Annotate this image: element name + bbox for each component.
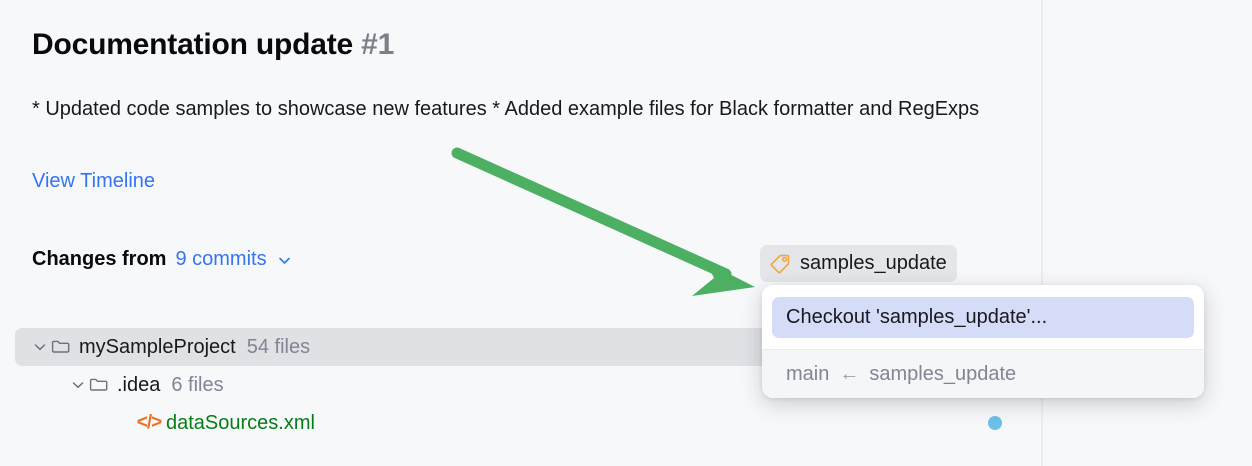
page-title: Documentation update #1	[32, 28, 394, 62]
table-row[interactable]: </> dataSources.xml	[0, 404, 1041, 442]
pr-number: #1	[361, 28, 394, 61]
folder-icon	[50, 337, 72, 357]
footer-source-branch: samples_update	[869, 363, 1016, 386]
changes-from-row: Changes from 9 commits	[32, 248, 293, 271]
footer-target-branch: main	[786, 363, 829, 386]
pr-title-text: Documentation update	[32, 28, 353, 61]
changes-from-label: Changes from	[32, 248, 166, 271]
branch-tag-chip[interactable]: samples_update	[760, 245, 957, 282]
tree-node-name: dataSources.xml	[166, 412, 315, 435]
chevron-down-icon[interactable]	[30, 337, 50, 357]
tree-node-count: 6 files	[171, 374, 223, 397]
chevron-down-icon[interactable]	[276, 252, 293, 269]
modified-status-dot	[988, 416, 1002, 430]
tag-icon	[769, 253, 791, 275]
menu-items-container: Checkout 'samples_update'...	[762, 285, 1204, 349]
tree-node-name: mySampleProject	[79, 336, 236, 359]
tree-node-name: .idea	[117, 374, 160, 397]
branch-tag-label: samples_update	[800, 252, 947, 275]
menu-item-checkout[interactable]: Checkout 'samples_update'...	[772, 297, 1194, 338]
popup-footer-branch-info: main ← samples_update	[762, 349, 1204, 398]
pull-request-details-panel: Documentation update #1 * Updated code s…	[0, 0, 1252, 466]
chevron-down-icon[interactable]	[68, 375, 88, 395]
view-timeline-link[interactable]: View Timeline	[32, 170, 155, 193]
xml-file-icon: </>	[136, 413, 162, 433]
left-arrow-icon: ←	[839, 363, 859, 386]
commits-count-link[interactable]: 9 commits	[175, 248, 266, 271]
branch-context-menu-popup: Checkout 'samples_update'... main ← samp…	[762, 285, 1204, 398]
pr-description: * Updated code samples to showcase new f…	[32, 92, 1012, 127]
tree-node-count: 54 files	[247, 336, 310, 359]
folder-icon	[88, 375, 110, 395]
